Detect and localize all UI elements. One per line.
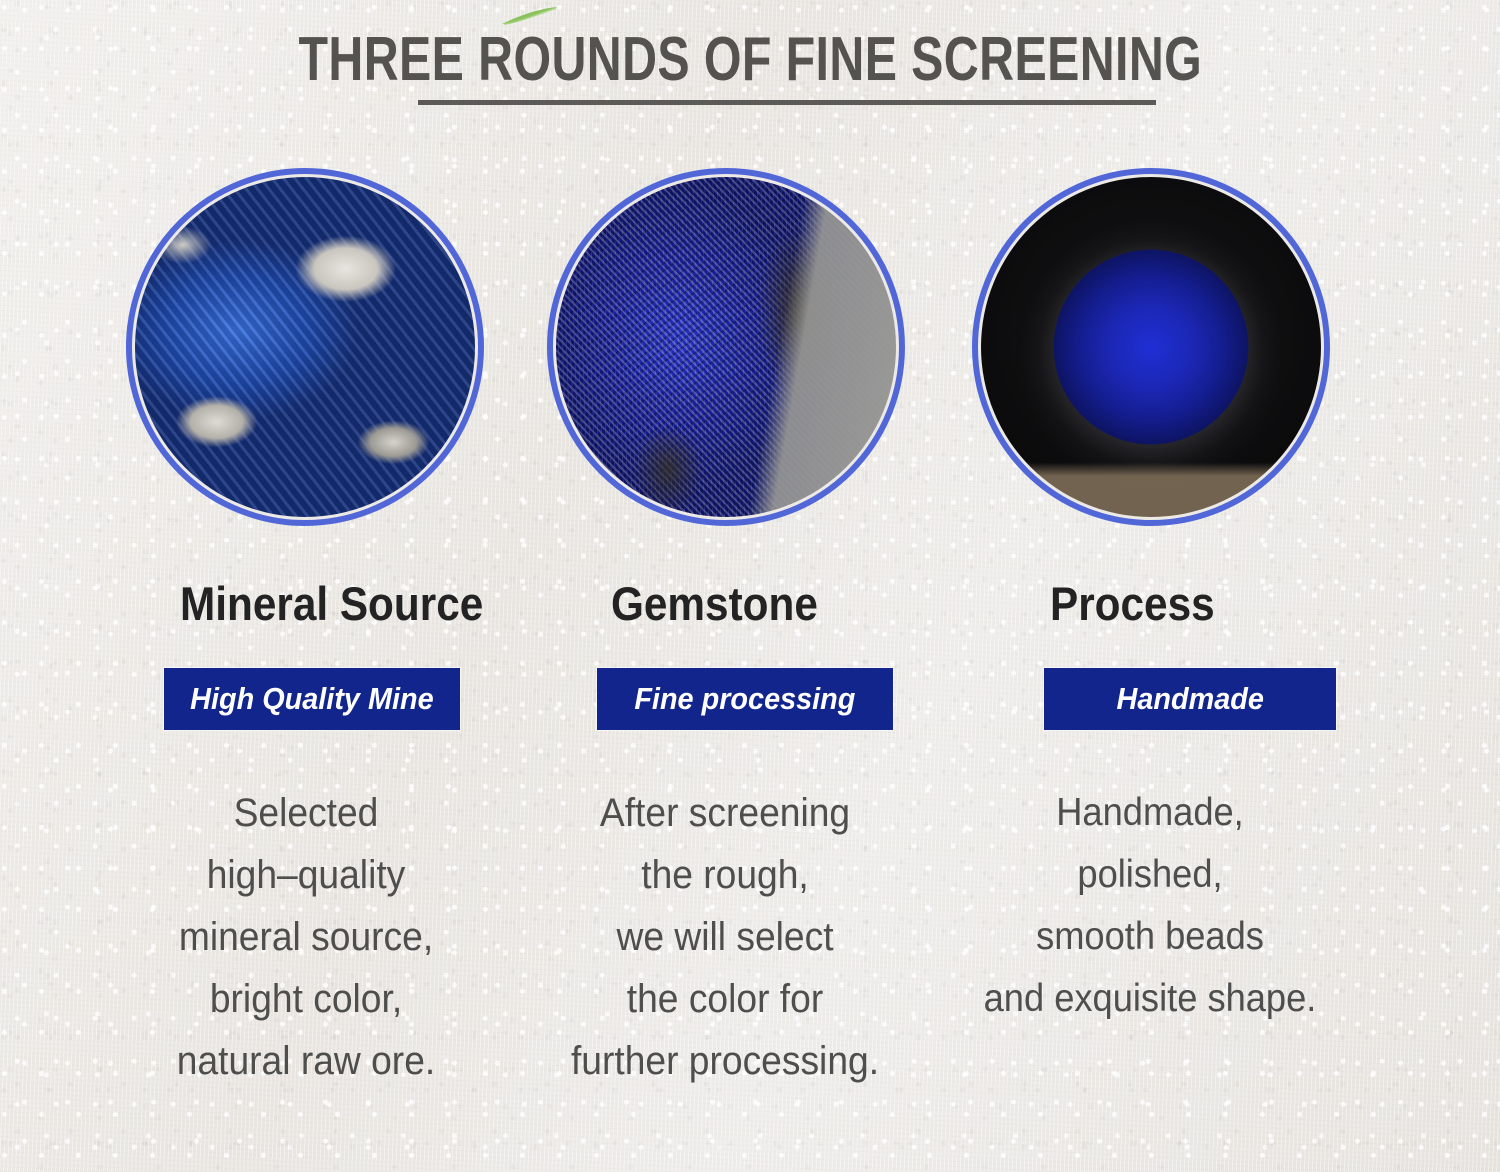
page-title: THREE ROUNDS OF FINE SCREENING xyxy=(298,28,1202,92)
body-line: Handmade, xyxy=(955,782,1346,844)
column-heading-3: Process xyxy=(1050,578,1215,630)
step-column-process: Process Handmade Handmade, polished, smo… xyxy=(940,160,1360,1120)
column-body-2: After screening the rough, we will selec… xyxy=(515,782,935,1092)
body-line: high–quality xyxy=(111,844,502,906)
step-column-mineral-source: Mineral Source High Quality Mine Selecte… xyxy=(96,160,516,1120)
polished-lapis-bead-photo xyxy=(981,177,1321,517)
body-line: mineral source, xyxy=(111,906,502,968)
body-line: natural raw ore. xyxy=(111,1030,502,1092)
column-body-1: Selected high–quality mineral source, br… xyxy=(96,782,516,1092)
photo-ring-2 xyxy=(547,168,905,526)
body-line: we will select xyxy=(530,906,921,968)
lapis-gemstone-rough-photo xyxy=(556,177,896,517)
rough-lapis-ore-photo xyxy=(135,177,475,517)
column-badge-label-1: High Quality Mine xyxy=(190,682,433,716)
photo-ring-3 xyxy=(972,168,1330,526)
column-badge-1: High Quality Mine xyxy=(164,668,460,730)
step-column-gemstone: Gemstone Fine processing After screening… xyxy=(515,160,935,1120)
photo-ring-1 xyxy=(126,168,484,526)
column-badge-3: Handmade xyxy=(1044,668,1336,730)
body-line: After screening xyxy=(530,782,921,844)
column-heading-2: Gemstone xyxy=(611,578,818,630)
body-line: Selected xyxy=(111,782,502,844)
body-line: smooth beads xyxy=(955,906,1346,968)
body-line: the rough, xyxy=(530,844,921,906)
body-line: and exquisite shape. xyxy=(955,968,1346,1030)
title-underline xyxy=(418,100,1156,105)
body-line: polished, xyxy=(955,844,1346,906)
column-heading-1: Mineral Source xyxy=(180,578,483,630)
body-line: further processing. xyxy=(530,1030,921,1092)
column-badge-label-2: Fine processing xyxy=(634,682,855,716)
column-body-3: Handmade, polished, smooth beads and exq… xyxy=(940,782,1360,1030)
column-badge-label-3: Handmade xyxy=(1116,682,1263,716)
page-title-wrapper: THREE ROUNDS OF FINE SCREENING xyxy=(0,28,1500,92)
column-badge-2: Fine processing xyxy=(597,668,893,730)
body-line: bright color, xyxy=(111,968,502,1030)
body-line: the color for xyxy=(530,968,921,1030)
